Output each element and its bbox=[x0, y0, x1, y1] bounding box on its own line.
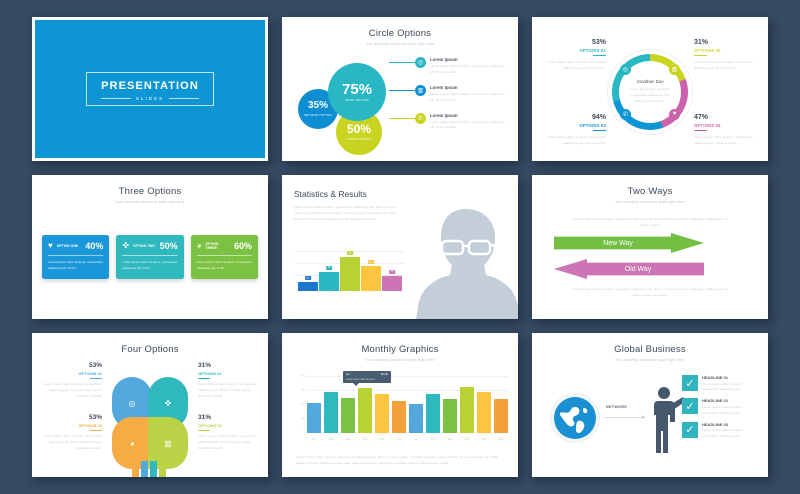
stat-underline bbox=[593, 55, 606, 56]
slide-ring-options[interactable]: Jonathan Doe Lorem ipsum dolor sit amet,… bbox=[532, 17, 768, 161]
globe-continents bbox=[554, 397, 596, 439]
bar-value-label: 62 bbox=[368, 260, 374, 264]
bubble-first-option[interactable]: 75% FIRST OPTION bbox=[328, 63, 386, 121]
stat-options-04: 31% OPTIONS 04 Lorem ipsum dolor sit ame… bbox=[198, 415, 260, 452]
card-name: OPTION ONE bbox=[57, 244, 82, 248]
stat-option-label: OPTIONS 01 bbox=[540, 48, 606, 53]
stat-body: Lorem ipsum dolor sit amet, consectetur … bbox=[694, 135, 760, 147]
page-title: Statistics & Results bbox=[294, 189, 399, 199]
arrow-old-way[interactable]: Old Way bbox=[554, 259, 704, 279]
axis-tick: JUN bbox=[392, 438, 406, 447]
puzzle-icon: ✜ bbox=[165, 399, 172, 408]
stat-underline bbox=[198, 430, 210, 431]
chart-bar[interactable] bbox=[324, 392, 338, 433]
stat-percent: 31% bbox=[694, 39, 760, 46]
target-icon[interactable]: ◎ bbox=[620, 64, 631, 75]
cover-subtitle-row: SLIDES bbox=[101, 96, 199, 101]
stat-percent: 94% bbox=[540, 114, 606, 121]
slide-cell-3: Jonathan Doe Lorem ipsum dolor sit amet,… bbox=[525, 10, 775, 168]
tooltip-body: Lorem ipsum dolor sit amet bbox=[346, 378, 388, 381]
card-body: Lorem ipsum dolor sit amet, consectetur … bbox=[48, 260, 103, 272]
legend-text: Lorem Ipsum Lorem ipsum dolor sit amet, … bbox=[430, 85, 510, 104]
stat-options-04: 47% OPTIONS 04 Lorem ipsum dolor sit ame… bbox=[694, 114, 760, 147]
stat-percent: 47% bbox=[694, 114, 760, 121]
chart-bar[interactable] bbox=[426, 394, 440, 433]
stat-options-01: 53% OPTIONS 01 Lorem ipsum dolor sit ame… bbox=[40, 363, 102, 400]
bubble-percent: 50% bbox=[347, 123, 371, 135]
cover-subtitle: SLIDES bbox=[136, 96, 164, 101]
avatar bbox=[414, 203, 518, 319]
slide-deck-grid: PRESENTATION SLIDES Circle Options Your … bbox=[0, 0, 800, 494]
axis-tick: FEB bbox=[324, 438, 338, 447]
card-percent: 50% bbox=[160, 241, 178, 251]
axis-tick: 01 bbox=[298, 291, 318, 297]
legend-text: Lorem Ipsum Lorem ipsum dolor sit amet, … bbox=[430, 57, 510, 76]
page-title: Three Options bbox=[32, 186, 268, 197]
list-item[interactable]: ✓ HEADLINE 01 Lorem ipsum dolor sit amet… bbox=[682, 375, 760, 393]
axis-tick: 900 bbox=[301, 375, 305, 378]
chart-bar[interactable] bbox=[375, 394, 389, 433]
stat-body: Lorem ipsum dolor sit amet, consectetur … bbox=[40, 434, 102, 452]
list-item[interactable]: ◎ Lorem Ipsum Lorem ipsum dolor sit amet… bbox=[415, 57, 510, 76]
option-card-one[interactable]: ♥ OPTION ONE 40% Lorem ipsum dolor sit a… bbox=[42, 235, 109, 279]
page-subtitle: Your amazing conclusion goes right here bbox=[282, 358, 518, 362]
axis-tick: JUL bbox=[409, 438, 423, 447]
chart-icon: ▥ bbox=[415, 85, 426, 96]
arrow-label: Old Way bbox=[625, 266, 652, 273]
legend-heading: Lorem Ipsum bbox=[430, 113, 510, 118]
stat-underline bbox=[90, 430, 102, 431]
list-item[interactable]: ✓ HEADLINE 02 Lorem ipsum dolor sit amet… bbox=[682, 398, 760, 416]
legend-body: Lorem ipsum dolor sit amet, consectetur … bbox=[430, 120, 510, 132]
phone-icon[interactable]: ✆ bbox=[620, 109, 631, 120]
bubble-percent: 35% bbox=[308, 101, 328, 111]
slide-four-options[interactable]: Four Options ◎ ✜ ◕ ▥ 53% OPTIONS 01 Lore… bbox=[32, 333, 268, 477]
stem-lime bbox=[159, 461, 166, 477]
slide-cell-9: Global Business Your amazing conclusion … bbox=[525, 326, 775, 484]
person-name: Jonathan Doe bbox=[636, 79, 663, 84]
person-body: Lorem ipsum dolor sit amet, consectetur … bbox=[627, 87, 673, 105]
headline-body: Lorem ipsum dolor sit amet, consectetur … bbox=[702, 382, 760, 394]
globe-icon bbox=[550, 393, 600, 443]
stat-option-label: OPTIONS 04 bbox=[198, 423, 260, 428]
headline-text: HEADLINE 01 Lorem ipsum dolor sit amet, … bbox=[702, 375, 760, 393]
chart-bar[interactable] bbox=[307, 403, 321, 433]
headline-text: HEADLINE 03 Lorem ipsum dolor sit amet, … bbox=[702, 422, 760, 440]
stat-option-label: OPTIONS 02 bbox=[694, 48, 760, 53]
arrow-row-old: Old Way bbox=[532, 259, 768, 279]
phone-icon: ✆ bbox=[415, 113, 426, 124]
page-title: Circle Options bbox=[282, 28, 518, 39]
page-title: Global Business bbox=[532, 344, 768, 355]
slide-cell-4: Three Options Your amazing conclusion go… bbox=[25, 168, 275, 326]
stat-underline bbox=[198, 378, 210, 379]
bar-value-label: 22 bbox=[305, 276, 311, 280]
chart-bars: 22 48 85 62 38 bbox=[298, 251, 402, 291]
target-icon: ◎ bbox=[129, 399, 136, 408]
network-arrow bbox=[604, 417, 644, 418]
connector-line bbox=[389, 62, 415, 63]
person-figure bbox=[650, 385, 684, 453]
circle-bubble-group: 75% FIRST OPTION 35% SECOND OPTION 50% T… bbox=[290, 57, 410, 152]
stem-orange bbox=[132, 461, 139, 477]
slide-cell-8: Monthly Graphics Your amazing conclusion… bbox=[275, 326, 525, 484]
stat-option-label: OPTIONS 03 bbox=[40, 423, 102, 428]
legend-body: Lorem ipsum dolor sit amet, consectetur … bbox=[430, 92, 510, 104]
stat-percent: 53% bbox=[40, 363, 102, 370]
stat-body: Lorem ipsum dolor sit amet, consectetur … bbox=[40, 382, 102, 400]
ring-diagram: Jonathan Doe Lorem ipsum dolor sit amet,… bbox=[612, 54, 688, 130]
globe-sphere bbox=[554, 397, 596, 439]
chart-bar[interactable]: 48 bbox=[319, 272, 339, 291]
axis-tick: MAR bbox=[341, 438, 355, 447]
page-subtitle: Your amazing conclusion goes right here bbox=[32, 200, 268, 204]
card-body: Lorem ipsum dolor sit amet, consectetur … bbox=[197, 260, 252, 272]
headline-text: HEADLINE 02 Lorem ipsum dolor sit amet, … bbox=[702, 398, 760, 416]
slide-monthly-graphics[interactable]: Monthly Graphics Your amazing conclusion… bbox=[282, 333, 518, 477]
stat-options-03: 53% OPTIONS 03 Lorem ipsum dolor sit ame… bbox=[40, 415, 102, 452]
card-header: ✜ OPTION TWO 50% bbox=[122, 241, 177, 251]
intro-text: Lorem ipsum dolor sit amet, consectetur … bbox=[572, 217, 728, 229]
bubble-label: FIRST OPTION bbox=[345, 98, 368, 102]
stat-percent: 53% bbox=[540, 39, 606, 46]
connector-line bbox=[389, 118, 415, 119]
bar-value-label: 85 bbox=[347, 251, 353, 255]
page-title: Four Options bbox=[32, 344, 268, 355]
statistics-body: Lorem ipsum dolor sit amet, consectetur … bbox=[294, 205, 399, 223]
tooltip-label: Apr bbox=[346, 373, 350, 376]
stat-underline bbox=[694, 55, 707, 56]
chart-bar[interactable]: 85 bbox=[340, 257, 360, 291]
stem-teal bbox=[150, 461, 157, 477]
option-card-two[interactable]: ✜ OPTION TWO 50% Lorem ipsum dolor sit a… bbox=[116, 235, 183, 279]
stat-option-label: OPTIONS 03 bbox=[540, 123, 606, 128]
slide-three-options[interactable]: Three Options Your amazing conclusion go… bbox=[32, 175, 268, 319]
statistics-bar-chart: 22 48 85 62 38 01 bbox=[294, 249, 404, 297]
stat-body: Lorem ipsum dolor sit amet, consectetur … bbox=[540, 135, 606, 147]
stat-body: Lorem ipsum dolor sit amet, consectetur … bbox=[540, 60, 606, 72]
axis-tick: 0 bbox=[304, 430, 305, 433]
page-title: Two Ways bbox=[532, 186, 768, 197]
headline-title: HEADLINE 02 bbox=[702, 398, 760, 403]
stat-option-label: OPTIONS 04 bbox=[694, 123, 760, 128]
chart-bar[interactable]: 38 bbox=[382, 276, 402, 291]
tooltip-value: 845.00 bbox=[381, 373, 388, 376]
bubble-percent: 75% bbox=[342, 82, 372, 97]
card-percent: 60% bbox=[234, 241, 252, 251]
axis-tick: 500 bbox=[301, 404, 305, 407]
checkbox-icon[interactable]: ✓ bbox=[682, 398, 698, 414]
slide-cover[interactable]: PRESENTATION SLIDES bbox=[32, 17, 268, 161]
chart-footer-text: Lorem ipsum dolor sit amet, consectetur … bbox=[296, 455, 506, 467]
axis-tick: 03 bbox=[340, 291, 360, 297]
card-divider bbox=[48, 255, 103, 256]
cover-title: PRESENTATION bbox=[101, 80, 199, 92]
page-title: Monthly Graphics bbox=[282, 344, 518, 355]
chart-bar[interactable]: 62 bbox=[361, 266, 381, 291]
axis-tick: 300 bbox=[301, 418, 305, 421]
legend-heading: Lorem Ipsum bbox=[430, 85, 510, 90]
axis-tick: MAY bbox=[375, 438, 389, 447]
chart-bar[interactable] bbox=[392, 401, 406, 433]
checkbox-icon[interactable]: ✓ bbox=[682, 375, 698, 391]
pie-icon: ◕ bbox=[130, 439, 135, 448]
slide-two-ways[interactable]: Two Ways Your amazing conclusion goes ri… bbox=[532, 175, 768, 319]
arrow-new-way[interactable]: New Way bbox=[554, 233, 704, 253]
chart-bar[interactable]: 22 bbox=[298, 282, 318, 291]
stat-options-01: 53% OPTIONS 01 Lorem ipsum dolor sit ame… bbox=[540, 39, 606, 72]
chart-plot-area: Apr 845.00 Lorem ipsum dolor sit amet bbox=[307, 375, 508, 433]
stat-body: Lorem ipsum dolor sit amet, consectetur … bbox=[198, 382, 260, 400]
axis-tick: SEP bbox=[443, 438, 457, 447]
chart-bar[interactable] bbox=[358, 388, 372, 433]
card-header: ♥ OPTION ONE 40% bbox=[48, 241, 103, 251]
network-label: NETWORK bbox=[606, 405, 627, 409]
axis-tick: OCT bbox=[460, 438, 474, 447]
axis-tick: APR bbox=[358, 438, 372, 447]
option-card-three[interactable]: ◕ OPTION THREE 60% Lorem ipsum dolor sit… bbox=[191, 235, 258, 279]
slide-statistics[interactable]: Statistics & Results Lorem ipsum dolor s… bbox=[282, 175, 518, 319]
cover-rule-left bbox=[101, 98, 131, 99]
heart-icon: ♥ bbox=[48, 242, 53, 250]
slide-cell-6: Two Ways Your amazing conclusion goes ri… bbox=[525, 168, 775, 326]
axis-tick: 04 bbox=[361, 291, 381, 297]
bubble-label: SECOND OPTION bbox=[304, 113, 332, 117]
stat-options-03: 94% OPTIONS 03 Lorem ipsum dolor sit ame… bbox=[540, 114, 606, 147]
list-item[interactable]: ▥ Lorem Ipsum Lorem ipsum dolor sit amet… bbox=[415, 85, 510, 104]
stat-underline bbox=[90, 378, 102, 379]
stat-percent: 31% bbox=[198, 415, 260, 422]
page-subtitle: Your amazing conclusion goes right here bbox=[532, 358, 768, 362]
pie-icon: ◕ bbox=[197, 242, 202, 250]
target-icon: ◎ bbox=[415, 57, 426, 68]
slide-cell-2: Circle Options Your amazing conclusion g… bbox=[275, 10, 525, 168]
circle-legend-list: ◎ Lorem Ipsum Lorem ipsum dolor sit amet… bbox=[415, 57, 510, 140]
bubble-label: THIRD OPTION bbox=[347, 137, 371, 141]
stat-underline bbox=[694, 130, 707, 131]
card-name: OPTION THREE bbox=[206, 242, 230, 251]
chart-bar[interactable] bbox=[443, 399, 457, 433]
headline-title: HEADLINE 03 bbox=[702, 422, 760, 427]
stat-options-02: 31% OPTIONS 02 Lorem ipsum dolor sit ame… bbox=[694, 39, 760, 72]
tooltip-header: Apr 845.00 bbox=[346, 373, 388, 376]
cover-title-box: PRESENTATION SLIDES bbox=[86, 72, 214, 106]
stat-option-label: OPTIONS 02 bbox=[198, 371, 260, 376]
stat-body: Lorem ipsum dolor sit amet, consectetur … bbox=[198, 434, 260, 452]
slide-cell-1: PRESENTATION SLIDES bbox=[25, 10, 275, 168]
chart-icon[interactable]: ▥ bbox=[669, 64, 680, 75]
headline-checklist: ✓ HEADLINE 01 Lorem ipsum dolor sit amet… bbox=[682, 375, 760, 445]
chart-y-axis: 900 700 500 300 0 bbox=[296, 375, 306, 433]
cover-rule-right bbox=[169, 98, 199, 99]
chart-x-axis: 01 02 03 04 05 bbox=[298, 291, 402, 297]
card-body: Lorem ipsum dolor sit amet, consectetur … bbox=[122, 260, 177, 272]
chart-x-axis: JAN FEB MAR APR MAY JUN JUL AUG SEP OCT … bbox=[307, 435, 508, 447]
legend-text: Lorem Ipsum Lorem ipsum dolor sit amet, … bbox=[430, 113, 510, 132]
slide-global-business[interactable]: Global Business Your amazing conclusion … bbox=[532, 333, 768, 477]
stat-percent: 53% bbox=[40, 415, 102, 422]
legend-body: Lorem ipsum dolor sit amet, consectetur … bbox=[430, 64, 510, 76]
card-name: OPTION TWO bbox=[133, 244, 156, 248]
axis-tick: NOV bbox=[477, 438, 491, 447]
chart-bar[interactable] bbox=[494, 399, 508, 433]
heart-icon[interactable]: ♥ bbox=[669, 109, 680, 120]
tooltip-pointer bbox=[353, 383, 359, 386]
bar-value-label: 38 bbox=[389, 270, 395, 274]
slide-circle-options[interactable]: Circle Options Your amazing conclusion g… bbox=[282, 17, 518, 161]
flower-diagram: ◎ ✜ ◕ ▥ bbox=[112, 377, 188, 469]
chart-bar[interactable] bbox=[341, 398, 355, 433]
list-item[interactable]: ✆ Lorem Ipsum Lorem ipsum dolor sit amet… bbox=[415, 113, 510, 132]
stat-options-02: 31% OPTIONS 02 Lorem ipsum dolor sit ame… bbox=[198, 363, 260, 400]
headline-title: HEADLINE 01 bbox=[702, 375, 760, 380]
outro-text: Lorem ipsum dolor sit amet, consectetur … bbox=[572, 287, 728, 299]
card-percent: 40% bbox=[85, 241, 103, 251]
slide-cell-5: Statistics & Results Lorem ipsum dolor s… bbox=[275, 168, 525, 326]
legend-heading: Lorem Ipsum bbox=[430, 57, 510, 62]
slide-cell-7: Four Options ◎ ✜ ◕ ▥ 53% OPTIONS 01 Lore… bbox=[25, 326, 275, 484]
axis-tick: 05 bbox=[382, 291, 402, 297]
page-subtitle: Your amazing conclusion goes right here bbox=[282, 42, 518, 46]
stat-option-label: OPTIONS 01 bbox=[40, 371, 102, 376]
chart-bar[interactable] bbox=[477, 392, 491, 433]
stat-percent: 31% bbox=[198, 363, 260, 370]
bar-value-label: 48 bbox=[326, 266, 332, 270]
bar-chart-icon: ▥ bbox=[164, 439, 172, 448]
card-header: ◕ OPTION THREE 60% bbox=[197, 241, 252, 251]
statistics-text-block: Statistics & Results Lorem ipsum dolor s… bbox=[294, 189, 399, 223]
list-item[interactable]: ✓ HEADLINE 03 Lorem ipsum dolor sit amet… bbox=[682, 422, 760, 440]
chart-tooltip: Apr 845.00 Lorem ipsum dolor sit amet bbox=[343, 371, 391, 383]
page-subtitle: Your amazing conclusion goes right here bbox=[532, 200, 768, 204]
axis-tick: JAN bbox=[307, 438, 321, 447]
card-divider bbox=[197, 255, 252, 256]
chart-bar[interactable] bbox=[409, 404, 423, 433]
axis-tick: 700 bbox=[301, 389, 305, 392]
arrow-row-new: New Way bbox=[532, 233, 768, 253]
option-card-group: ♥ OPTION ONE 40% Lorem ipsum dolor sit a… bbox=[42, 235, 258, 279]
checkbox-icon[interactable]: ✓ bbox=[682, 422, 698, 438]
puzzle-icon: ✜ bbox=[122, 242, 129, 250]
arrow-label: New Way bbox=[603, 240, 633, 247]
axis-tick: 02 bbox=[319, 291, 339, 297]
headline-body: Lorem ipsum dolor sit amet, consectetur … bbox=[702, 405, 760, 417]
headline-body: Lorem ipsum dolor sit amet, consectetur … bbox=[702, 428, 760, 440]
axis-tick: DEC bbox=[494, 438, 508, 447]
stat-body: Lorem ipsum dolor sit amet, consectetur … bbox=[694, 60, 760, 72]
stat-underline bbox=[593, 130, 606, 131]
chart-bars bbox=[307, 375, 508, 433]
monthly-bar-chart: 900 700 500 300 0 bbox=[296, 375, 508, 447]
chart-bar[interactable] bbox=[460, 387, 474, 433]
connector-line bbox=[389, 90, 415, 91]
card-divider bbox=[122, 255, 177, 256]
axis-tick: AUG bbox=[426, 438, 440, 447]
stem-blue bbox=[141, 461, 148, 477]
